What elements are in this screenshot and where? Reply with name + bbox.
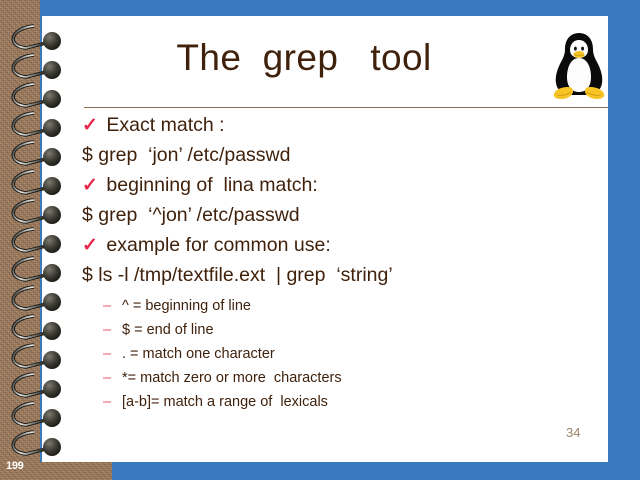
tux-linux-penguin-icon	[548, 30, 610, 100]
sub-list-item: – $ = end of line	[103, 322, 583, 346]
list-item-label: example for common use:	[101, 234, 331, 257]
title-divider-rule	[84, 107, 608, 108]
list-item: ✓ beginning of lina match:	[82, 174, 602, 204]
right-blue-band	[608, 0, 640, 480]
dash-icon: –	[103, 394, 122, 410]
list-item-label: Exact match :	[101, 114, 225, 137]
slide-title: The grep tool	[84, 38, 524, 79]
list-item: ✓ Exact match :	[82, 114, 602, 144]
main-content-list: ✓ Exact match : $ grep ‘jon’ /etc/passwd…	[82, 114, 602, 294]
check-icon: ✓	[82, 176, 101, 195]
list-item: $ grep ‘jon’ /etc/passwd	[82, 144, 602, 174]
dash-icon: –	[103, 370, 122, 386]
check-icon: ✓	[82, 236, 101, 255]
bottom-blue-band	[112, 462, 640, 480]
sub-list-item: – . = match one character	[103, 346, 583, 370]
sub-list-item-label: . = match one character	[122, 346, 275, 362]
list-item-label: beginning of lina match:	[101, 174, 318, 197]
sub-list-item: – [a-b]= match a range of lexicals	[103, 394, 583, 418]
dash-icon: –	[103, 346, 122, 362]
footer-label: 199	[6, 460, 23, 472]
sub-list-item-label: ^ = beginning of line	[122, 298, 251, 314]
list-item-label: $ grep ‘jon’ /etc/passwd	[82, 144, 290, 167]
list-item: ✓ example for common use:	[82, 234, 602, 264]
sub-list-item-label: $ = end of line	[122, 322, 214, 338]
check-icon: ✓	[82, 116, 101, 135]
dash-icon: –	[103, 322, 122, 338]
list-item-label: $ ls -l /tmp/textfile.ext | grep ‘string…	[82, 264, 393, 287]
top-blue-band	[41, 0, 640, 16]
page-number: 34	[566, 425, 580, 440]
sub-list-item-label: *= match zero or more characters	[122, 370, 342, 386]
sub-content-list: – ^ = beginning of line – $ = end of lin…	[103, 298, 583, 418]
slide: The grep tool ✓ Exact match :	[0, 0, 640, 480]
list-item-label: $ grep ‘^jon’ /etc/passwd	[82, 204, 300, 227]
notebook-spine-panel	[0, 0, 41, 480]
list-item: $ ls -l /tmp/textfile.ext | grep ‘string…	[82, 264, 602, 294]
list-item: $ grep ‘^jon’ /etc/passwd	[82, 204, 602, 234]
sub-list-item-label: [a-b]= match a range of lexicals	[122, 394, 328, 410]
sub-list-item: – *= match zero or more characters	[103, 370, 583, 394]
dash-icon: –	[103, 298, 122, 314]
sub-list-item: – ^ = beginning of line	[103, 298, 583, 322]
